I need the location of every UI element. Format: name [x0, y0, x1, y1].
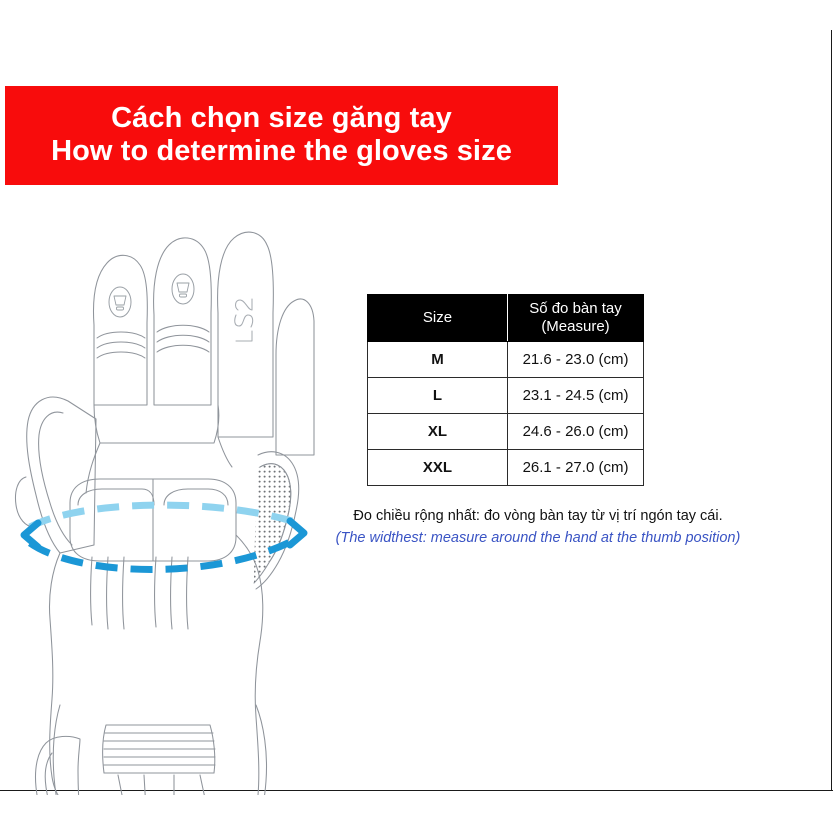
table-row: M 21.6 - 23.0 (cm): [368, 342, 644, 378]
banner-title-vietnamese: Cách chọn size găng tay: [111, 102, 452, 134]
cell-measure: 21.6 - 23.0 (cm): [508, 342, 644, 378]
measure-arrow-left: [24, 523, 38, 547]
glove-illustration: [8, 205, 318, 795]
measurement-caption: Đo chiều rộng nhất: đo vòng bàn tay từ v…: [268, 506, 808, 550]
cell-measure: 23.1 - 24.5 (cm): [508, 378, 644, 414]
table-row: XL 24.6 - 26.0 (cm): [368, 414, 644, 450]
size-chart-page: Cách chọn size găng tay How to determine…: [0, 0, 834, 834]
column-header-size-label: Size: [368, 309, 507, 327]
cell-measure: 26.1 - 27.0 (cm): [508, 450, 644, 486]
table-row: XXL 26.1 - 27.0 (cm): [368, 450, 644, 486]
column-header-measure: Số đo bàn tay (Measure): [508, 295, 644, 342]
caption-vietnamese: Đo chiều rộng nhất: đo vòng bàn tay từ v…: [268, 506, 808, 528]
column-header-measure-sublabel: (Measure): [508, 318, 643, 336]
column-header-size: Size: [368, 295, 508, 342]
cell-size: XXL: [368, 450, 508, 486]
size-table-body: M 21.6 - 23.0 (cm) L 23.1 - 24.5 (cm) XL…: [368, 342, 644, 486]
size-table: Size Số đo bàn tay (Measure) M 21.6 - 23…: [367, 294, 644, 486]
glove-line-art-svg: [8, 205, 318, 795]
banner-title-english: How to determine the gloves size: [51, 135, 512, 167]
cell-measure: 24.6 - 26.0 (cm): [508, 414, 644, 450]
caption-english: (The widthest: measure around the hand a…: [268, 528, 808, 550]
size-table-head: Size Số đo bàn tay (Measure): [368, 295, 644, 342]
table-header-row: Size Số đo bàn tay (Measure): [368, 295, 644, 342]
table-row: L 23.1 - 24.5 (cm): [368, 378, 644, 414]
cell-size: M: [368, 342, 508, 378]
title-banner: Cách chọn size găng tay How to determine…: [5, 86, 558, 185]
column-header-measure-label: Số đo bàn tay: [508, 300, 643, 318]
cell-size: L: [368, 378, 508, 414]
measure-arc-light: [30, 505, 292, 527]
frame-border-right: [831, 30, 832, 790]
cell-size: XL: [368, 414, 508, 450]
